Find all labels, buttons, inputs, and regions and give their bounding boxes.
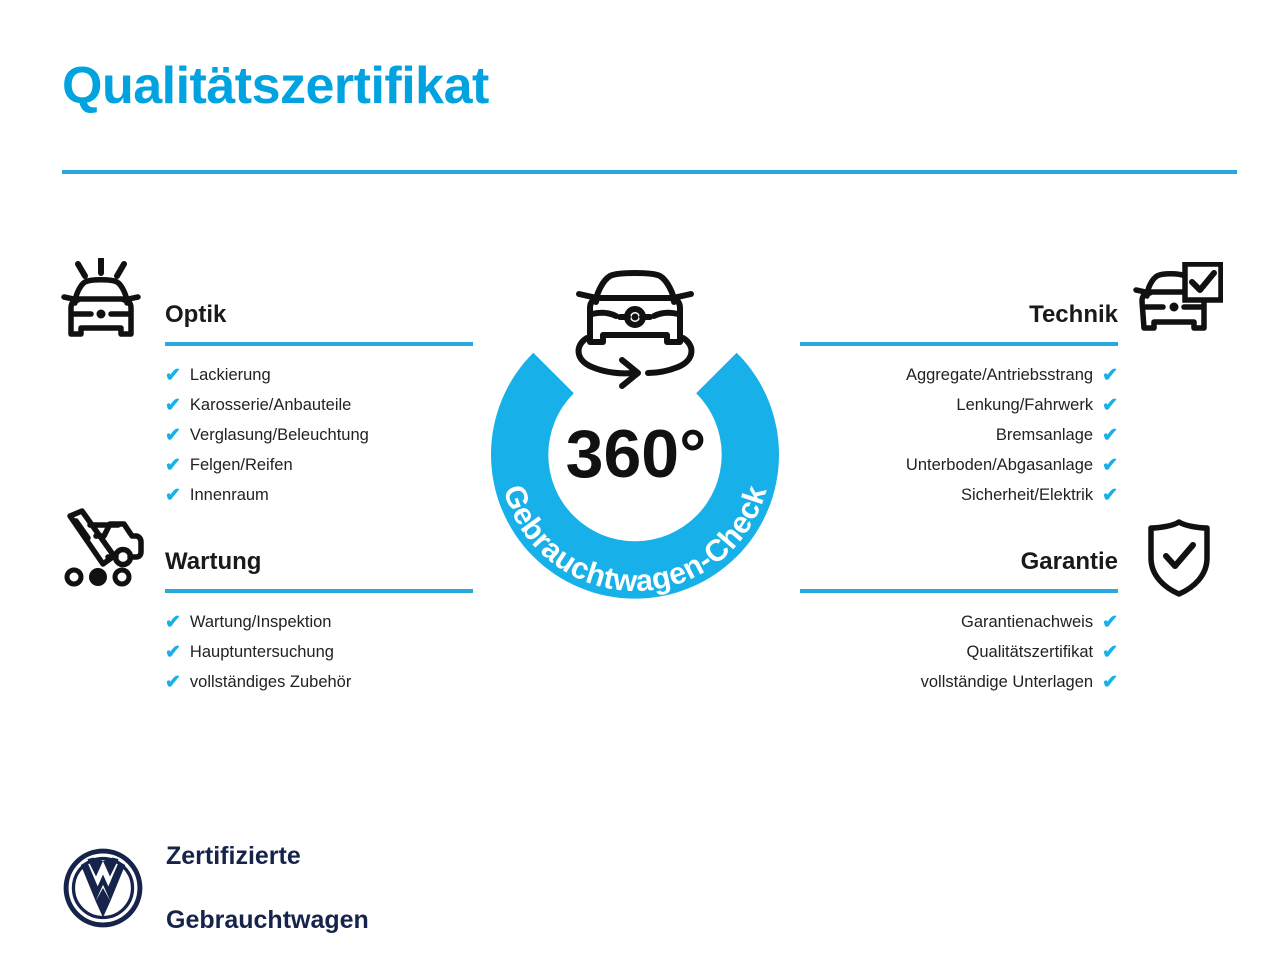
service-pencil-car-icon [58,508,144,595]
check-icon: ✔ [165,456,181,475]
list-item-label: Bremsanlage [996,420,1093,450]
section-technik-header: Technik [800,300,1118,346]
quality-certificate-page: Qualitätszertifikat [0,0,1280,960]
list-item: ✔Lackierung [165,360,473,390]
list-item: ✔Verglasung/Beleuchtung [165,420,473,450]
list-item: Aggregate/Antriebsstrang✔ [800,360,1118,390]
section-wartung-header: Wartung [165,547,473,593]
section-technik: Technik Aggregate/Antriebsstrang✔ Lenkun… [800,300,1118,510]
list-item-label: Lackierung [190,360,271,390]
section-wartung-list: ✔Wartung/Inspektion ✔Hauptuntersuchung ✔… [165,607,473,697]
list-item-label: Lenkung/Fahrwerk [956,390,1093,420]
check-icon: ✔ [165,486,181,505]
check-icon: ✔ [165,366,181,385]
volkswagen-logo [62,847,144,929]
check-icon: ✔ [1102,486,1118,505]
section-garantie-header: Garantie [800,547,1118,593]
list-item: ✔vollständiges Zubehör [165,667,473,697]
check-icon: ✔ [165,613,181,632]
list-item-label: Karosserie/Anbauteile [190,390,351,420]
section-technik-divider [800,342,1118,346]
check-icon: ✔ [1102,613,1118,632]
list-item-label: vollständiges Zubehör [190,667,351,697]
check-icon: ✔ [1102,456,1118,475]
check-icon: ✔ [1102,396,1118,415]
list-item-label: Aggregate/Antriebsstrang [906,360,1093,390]
list-item-label: Felgen/Reifen [190,450,293,480]
section-wartung-divider [165,589,473,593]
section-optik-header: Optik [165,300,473,346]
page-title: Qualitätszertifikat [62,58,489,115]
section-wartung-title: Wartung [165,547,473,577]
list-item: Garantienachweis✔ [800,607,1118,637]
footer-line-2: Gebrauchtwagen [166,904,369,936]
car-polish-icon [58,258,144,353]
list-item: ✔Felgen/Reifen [165,450,473,480]
section-garantie: Garantie Garantienachweis✔ Qualitätszert… [800,547,1118,697]
section-garantie-list: Garantienachweis✔ Qualitätszertifikat✔ v… [800,607,1118,697]
list-item-label: Sicherheit/Elektrik [961,480,1093,510]
list-item-label: Garantienachweis [961,607,1093,637]
list-item-label: Qualitätszertifikat [967,637,1094,667]
list-item-label: vollständige Unterlagen [921,667,1093,697]
section-technik-list: Aggregate/Antriebsstrang✔ Lenkung/Fahrwe… [800,360,1118,510]
list-item: Bremsanlage✔ [800,420,1118,450]
section-technik-title: Technik [800,300,1118,330]
badge-center-text: 360° [566,416,707,492]
footer-text: Zertifizierte Gebrauchtwagen [166,808,369,960]
section-optik: Optik ✔Lackierung ✔Karosserie/Anbauteile… [165,300,473,510]
list-item: Sicherheit/Elektrik✔ [800,480,1118,510]
section-garantie-title: Garantie [800,547,1118,577]
list-item: vollständige Unterlagen✔ [800,667,1118,697]
check-icon: ✔ [1102,643,1118,662]
check-icon: ✔ [1102,366,1118,385]
check-icon: ✔ [1102,673,1118,692]
list-item: Qualitätszertifikat✔ [800,637,1118,667]
list-item-label: Innenraum [190,480,269,510]
list-item: Lenkung/Fahrwerk✔ [800,390,1118,420]
car-rotate-icon [579,273,692,386]
car-checkbox-icon [1133,262,1223,349]
list-item-label: Hauptuntersuchung [190,637,334,667]
list-item: ✔Hauptuntersuchung [165,637,473,667]
list-item: ✔Karosserie/Anbauteile [165,390,473,420]
footer-logo-block: Zertifizierte Gebrauchtwagen [62,808,369,960]
list-item: ✔Wartung/Inspektion [165,607,473,637]
footer-line-1: Zertifizierte [166,840,369,872]
360-check-badge: 360° Gebrauchtwagen-Check [455,255,815,620]
check-icon: ✔ [165,426,181,445]
section-optik-list: ✔Lackierung ✔Karosserie/Anbauteile ✔Verg… [165,360,473,510]
check-icon: ✔ [165,396,181,415]
list-item: ✔Innenraum [165,480,473,510]
section-optik-title: Optik [165,300,473,330]
shield-check-icon [1143,518,1215,603]
section-wartung: Wartung ✔Wartung/Inspektion ✔Hauptunters… [165,547,473,697]
check-icon: ✔ [1102,426,1118,445]
section-garantie-divider [800,589,1118,593]
list-item-label: Unterboden/Abgasanlage [906,450,1093,480]
list-item: Unterboden/Abgasanlage✔ [800,450,1118,480]
title-divider [62,170,1237,174]
list-item-label: Wartung/Inspektion [190,607,332,637]
list-item-label: Verglasung/Beleuchtung [190,420,369,450]
check-icon: ✔ [165,673,181,692]
section-optik-divider [165,342,473,346]
check-icon: ✔ [165,643,181,662]
